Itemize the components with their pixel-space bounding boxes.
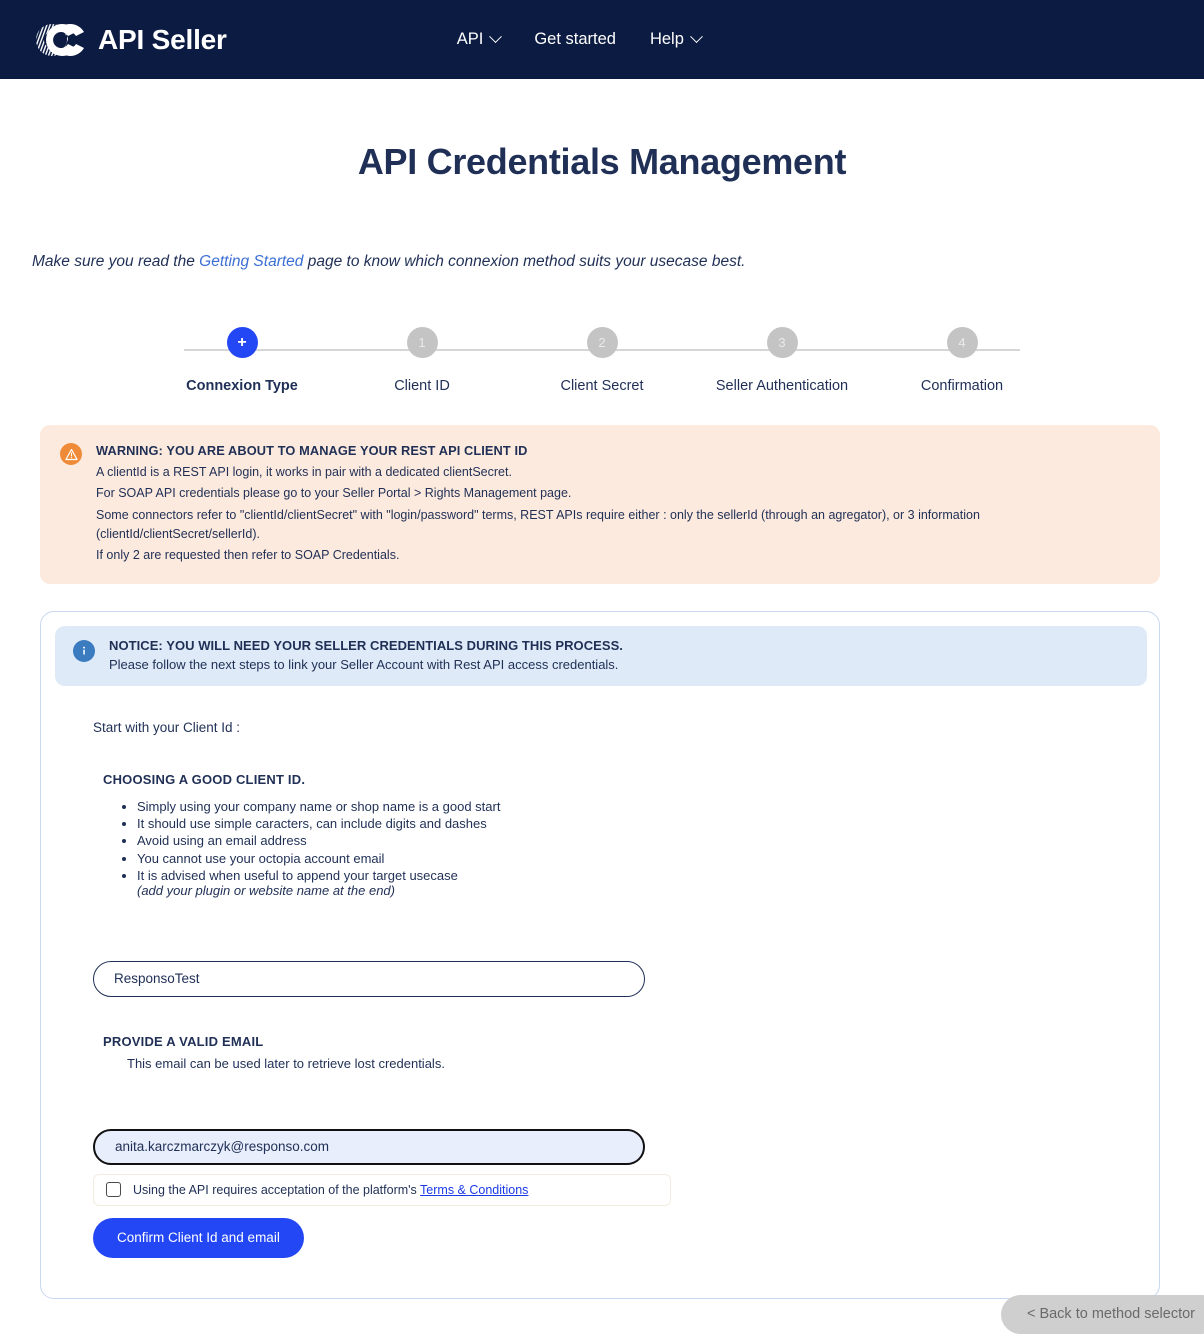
list-item: It should use simple caracters, can incl… <box>137 816 1145 831</box>
notice-alert-text: Please follow the next steps to link you… <box>109 657 623 672</box>
warning-line-3: Some connectors refer to "clientId/clien… <box>96 506 1140 545</box>
nav-item-get-started[interactable]: Get started <box>534 30 616 49</box>
notice-alert-title: NOTICE: YOU WILL NEED YOUR SELLER CREDEN… <box>109 638 623 653</box>
terms-label: Using the API requires acceptation of th… <box>133 1183 528 1197</box>
client-id-tips-list: Simply using your company name or shop n… <box>117 799 1145 899</box>
step-label-confirmation: Confirmation <box>921 378 1003 394</box>
step-badge-seller-authentication: 3 <box>767 327 798 358</box>
progress-stepper: + Connexion Type 1 Client ID 2 Client Se… <box>32 327 1172 407</box>
nav-item-help[interactable]: Help <box>650 30 701 49</box>
subtitle-text-before: Make sure you read the <box>32 253 199 270</box>
info-circle-icon <box>73 640 95 662</box>
page-content: API Credentials Management Make sure you… <box>0 141 1204 1299</box>
step-badge-client-secret: 2 <box>587 327 618 358</box>
chevron-down-icon <box>489 30 502 43</box>
chevron-down-icon <box>690 30 703 43</box>
step-connexion-type[interactable]: + Connexion Type <box>152 327 332 394</box>
warning-line-2: For SOAP API credentials please go to yo… <box>96 484 1140 503</box>
list-item: You cannot use your octopia account emai… <box>137 851 1145 866</box>
notice-alert-body: NOTICE: YOU WILL NEED YOUR SELLER CREDEN… <box>109 638 623 672</box>
step-label-client-id: Client ID <box>394 378 450 394</box>
step-label-client-secret: Client Secret <box>560 378 643 394</box>
warning-line-4: If only 2 are requested then refer to SO… <box>96 546 1140 565</box>
nav-item-api-label: API <box>457 30 484 49</box>
top-navigation-bar: API Seller API Get started Help <box>0 0 1204 79</box>
step-client-secret[interactable]: 2 Client Secret <box>512 327 692 394</box>
start-with-client-id-label: Start with your Client Id : <box>93 720 1145 735</box>
nav-item-get-started-label: Get started <box>534 30 616 49</box>
tip-last-parenthetical: (add your plugin or website name at the … <box>137 883 395 898</box>
step-badge-confirmation: 4 <box>947 327 978 358</box>
nav-item-api[interactable]: API <box>457 30 501 49</box>
step-badge-client-id: 1 <box>407 327 438 358</box>
client-id-input[interactable] <box>93 961 645 997</box>
terms-checkbox[interactable] <box>106 1182 121 1197</box>
brand-name: API Seller <box>98 26 227 54</box>
nav-links: API Get started Help <box>457 30 701 49</box>
list-item: Simply using your company name or shop n… <box>137 799 1145 814</box>
warning-alert-title: WARNING: YOU ARE ABOUT TO MANAGE YOUR RE… <box>96 441 1140 461</box>
stepper-steps: + Connexion Type 1 Client ID 2 Client Se… <box>32 327 1172 394</box>
list-item: Avoid using an email address <box>137 833 1145 848</box>
email-input[interactable] <box>93 1129 645 1165</box>
nav-item-help-label: Help <box>650 30 684 49</box>
step-badge-connexion-type: + <box>227 327 258 358</box>
terms-and-conditions-link[interactable]: Terms & Conditions <box>420 1183 528 1197</box>
terms-acceptance-row[interactable]: Using the API requires acceptation of th… <box>93 1174 671 1206</box>
choosing-client-id-heading: CHOOSING A GOOD CLIENT ID. <box>103 772 1145 787</box>
page-subtitle: Make sure you read the Getting Started p… <box>32 253 1172 271</box>
warning-line-1: A clientId is a REST API login, it works… <box>96 463 1140 482</box>
warning-alert: WARNING: YOU ARE ABOUT TO MANAGE YOUR RE… <box>40 425 1160 584</box>
page-title: API Credentials Management <box>32 141 1172 183</box>
tip-last-main: It is advised when useful to append your… <box>137 868 458 883</box>
provide-valid-email-heading: PROVIDE A VALID EMAIL <box>103 1034 1145 1049</box>
back-to-method-selector-button[interactable]: < Back to method selector <box>1001 1295 1204 1334</box>
brand-logo-link[interactable]: API Seller <box>32 20 227 60</box>
step-confirmation[interactable]: 4 Confirmation <box>872 327 1052 394</box>
warning-triangle-icon <box>60 443 82 465</box>
step-seller-authentication[interactable]: 3 Seller Authentication <box>692 327 872 394</box>
warning-alert-body: WARNING: YOU ARE ABOUT TO MANAGE YOUR RE… <box>96 441 1140 566</box>
step-client-id[interactable]: 1 Client ID <box>332 327 512 394</box>
notice-alert: NOTICE: YOU WILL NEED YOUR SELLER CREDEN… <box>55 626 1147 686</box>
terms-label-text: Using the API requires acceptation of th… <box>133 1183 420 1197</box>
subtitle-text-after: page to know which connexion method suit… <box>303 253 745 270</box>
email-helper-text: This email can be used later to retrieve… <box>127 1056 1145 1071</box>
oc-monogram-logo-icon <box>32 20 86 60</box>
getting-started-link[interactable]: Getting Started <box>199 253 303 270</box>
list-item: It is advised when useful to append your… <box>137 868 1145 899</box>
confirm-client-id-and-email-button[interactable]: Confirm Client Id and email <box>93 1218 304 1258</box>
step-label-seller-authentication: Seller Authentication <box>716 378 848 394</box>
client-id-step-card: NOTICE: YOU WILL NEED YOUR SELLER CREDEN… <box>40 611 1160 1299</box>
step-label-connexion-type: Connexion Type <box>186 378 298 394</box>
